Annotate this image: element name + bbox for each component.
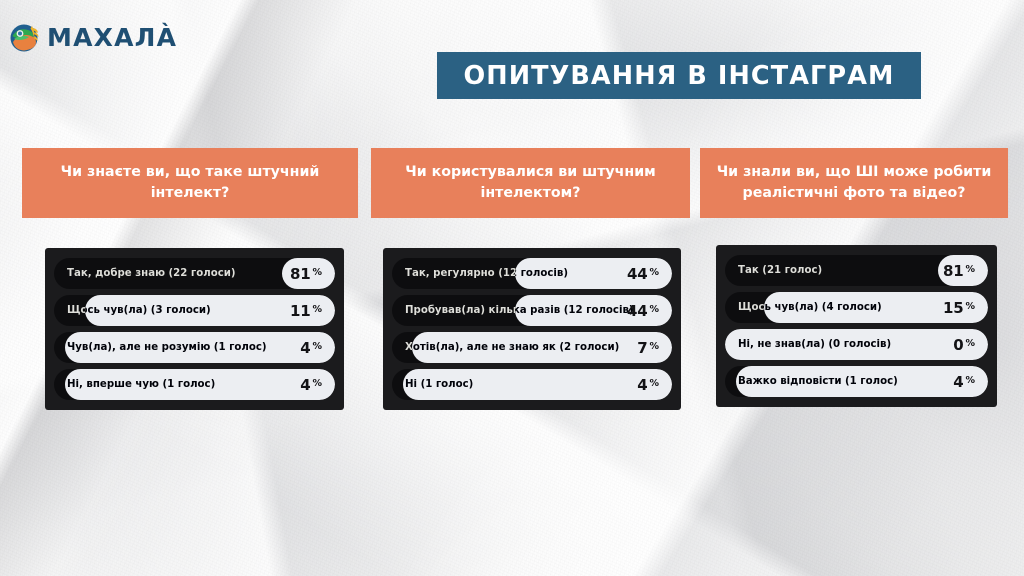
poll-column-2: Чи користувалися ви штучним інтелектом?Т…: [371, 148, 690, 410]
poll-option-label: Важко відповісти (1 голос): [738, 366, 898, 397]
poll-question-text: Чи користувалися ви штучним інтелектом?: [383, 162, 678, 203]
poll-option-label: Хотів(ла), але не знаю як (2 голоси): [405, 332, 619, 363]
percent-symbol: %: [649, 341, 659, 352]
page-title: ОПИТУВАННЯ В ІНСТАГРАМ: [463, 61, 894, 91]
poll-percent-value: 7: [637, 339, 647, 357]
percent-symbol: %: [965, 301, 975, 312]
percent-symbol: %: [312, 341, 322, 352]
percent-symbol: %: [649, 304, 659, 315]
poll-option-row[interactable]: Так, регулярно (12 голосів)44%: [392, 258, 672, 289]
percent-symbol: %: [965, 264, 975, 275]
poll-percent-value: 11: [290, 302, 310, 320]
poll-option-label: Так (21 голос): [738, 255, 822, 286]
poll-percent-value: 15: [943, 299, 963, 317]
poll-option-percent: 0%: [953, 329, 975, 360]
poll-option-row[interactable]: Ні, не знав(ла) (0 голосів)0%: [725, 329, 988, 360]
poll-option-label: Щось чув(ла) (4 голоси): [738, 292, 882, 323]
percent-symbol: %: [649, 267, 659, 278]
poll-option-label: Так, добре знаю (22 голоси): [67, 258, 236, 289]
poll-percent-value: 0: [953, 336, 963, 354]
poll-question-banner: Чи знали ви, що ШІ може робити реалістич…: [700, 148, 1008, 218]
poll-option-label: Так, регулярно (12 голосів): [405, 258, 568, 289]
poll-percent-value: 4: [300, 376, 310, 394]
poll-percent-value: 44: [627, 265, 647, 283]
poll-percent-value: 81: [290, 265, 310, 283]
poll-option-percent: 4%: [300, 332, 322, 363]
globe-emblem-icon: [8, 20, 42, 54]
poll-column-3: Чи знали ви, що ШІ може робити реалістич…: [700, 148, 1008, 407]
poll-results-card: Так, регулярно (12 голосів)44%Пробував(л…: [383, 248, 681, 410]
page-title-banner: ОПИТУВАННЯ В ІНСТАГРАМ: [437, 52, 921, 99]
poll-percent-value: 44: [627, 302, 647, 320]
poll-option-percent: 4%: [953, 366, 975, 397]
brand-logo: МАХАЛÀ: [8, 20, 177, 54]
poll-option-row[interactable]: Ні (1 голос)4%: [392, 369, 672, 400]
poll-question-banner: Чи знаєте ви, що таке штучний інтелект?: [22, 148, 358, 218]
poll-option-percent: 81%: [943, 255, 975, 286]
poll-column-1: Чи знаєте ви, що таке штучний інтелект?Т…: [22, 148, 358, 410]
poll-option-row[interactable]: Щось чув(ла) (3 голоси)11%: [54, 295, 335, 326]
poll-percent-value: 81: [943, 262, 963, 280]
poll-results-card: Так (21 голос)81%Щось чув(ла) (4 голоси)…: [716, 245, 997, 407]
poll-option-percent: 44%: [627, 258, 659, 289]
poll-option-label: Пробував(ла) кілька разів (12 голосів): [405, 295, 634, 326]
poll-option-row[interactable]: Ні, вперше чую (1 голос)4%: [54, 369, 335, 400]
poll-percent-value: 4: [953, 373, 963, 391]
poll-option-percent: 4%: [300, 369, 322, 400]
poll-option-label: Ні, не знав(ла) (0 голосів): [738, 329, 891, 360]
poll-option-label: Щось чув(ла) (3 голоси): [67, 295, 211, 326]
percent-symbol: %: [312, 304, 322, 315]
poll-option-percent: 15%: [943, 292, 975, 323]
poll-question-text: Чи знали ви, що ШІ може робити реалістич…: [712, 162, 996, 203]
poll-option-row[interactable]: Чув(ла), але не розумію (1 голос)4%: [54, 332, 335, 363]
poll-option-row[interactable]: Так (21 голос)81%: [725, 255, 988, 286]
poll-question-banner: Чи користувалися ви штучним інтелектом?: [371, 148, 690, 218]
poll-question-text: Чи знаєте ви, що таке штучний інтелект?: [34, 162, 346, 203]
percent-symbol: %: [312, 267, 322, 278]
poll-percent-value: 4: [637, 376, 647, 394]
poll-results-card: Так, добре знаю (22 голоси)81%Щось чув(л…: [45, 248, 344, 410]
poll-option-percent: 44%: [627, 295, 659, 326]
poll-option-row[interactable]: Хотів(ла), але не знаю як (2 голоси)7%: [392, 332, 672, 363]
poll-option-row[interactable]: Важко відповісти (1 голос)4%: [725, 366, 988, 397]
poll-option-row[interactable]: Так, добре знаю (22 голоси)81%: [54, 258, 335, 289]
poll-option-percent: 81%: [290, 258, 322, 289]
percent-symbol: %: [649, 378, 659, 389]
poll-option-label: Чув(ла), але не розумію (1 голос): [67, 332, 267, 363]
poll-percent-value: 4: [300, 339, 310, 357]
poll-option-percent: 7%: [637, 332, 659, 363]
percent-symbol: %: [312, 378, 322, 389]
percent-symbol: %: [965, 338, 975, 349]
brand-wordmark: МАХАЛÀ: [47, 25, 177, 50]
poll-option-percent: 4%: [637, 369, 659, 400]
poll-option-row[interactable]: Пробував(ла) кілька разів (12 голосів)44…: [392, 295, 672, 326]
poll-option-row[interactable]: Щось чув(ла) (4 голоси)15%: [725, 292, 988, 323]
poll-option-label: Ні, вперше чую (1 голос): [67, 369, 215, 400]
percent-symbol: %: [965, 375, 975, 386]
poll-option-label: Ні (1 голос): [405, 369, 473, 400]
poll-option-percent: 11%: [290, 295, 322, 326]
